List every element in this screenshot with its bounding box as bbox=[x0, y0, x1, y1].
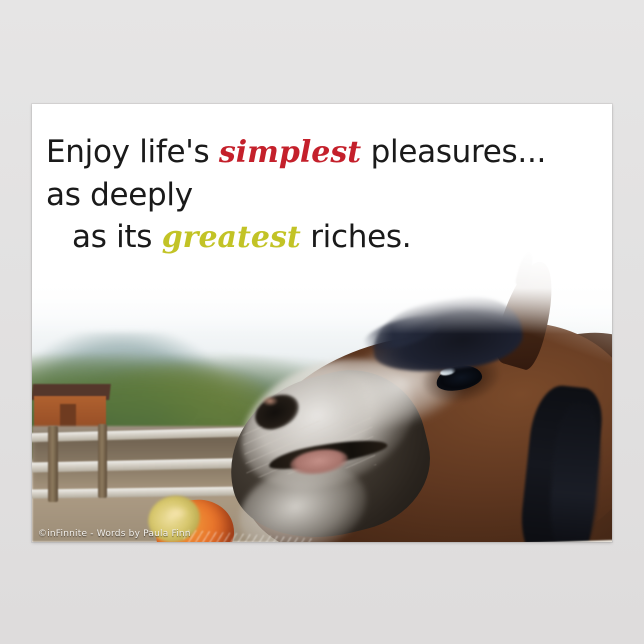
horse-nostril-highlight bbox=[262, 396, 278, 406]
quote-line-2: as deeply bbox=[46, 175, 612, 215]
quote-emphasis-greatest: greatest bbox=[162, 220, 301, 255]
poster[interactable]: Enjoy life's simplest pleasures... as de… bbox=[32, 104, 612, 542]
copyright-credit: ©inFinnite - Words by Paula Finn bbox=[38, 529, 191, 539]
screenshot-canvas: Enjoy life's simplest pleasures... as de… bbox=[0, 0, 644, 644]
quote-emphasis-simplest: simplest bbox=[219, 135, 361, 170]
quote-line-1: Enjoy life's simplest pleasures... bbox=[46, 132, 612, 173]
quote-line-1-suffix: pleasures... bbox=[361, 134, 546, 170]
quote-line-1-prefix: Enjoy life's bbox=[46, 134, 219, 170]
apple-highlight bbox=[166, 506, 188, 520]
quote-line-3-suffix: riches. bbox=[301, 219, 412, 255]
quote-line-3: as its greatest riches. bbox=[46, 217, 612, 258]
quote-line-3-prefix: as its bbox=[72, 219, 162, 255]
poster-quote: Enjoy life's simplest pleasures... as de… bbox=[32, 104, 612, 258]
